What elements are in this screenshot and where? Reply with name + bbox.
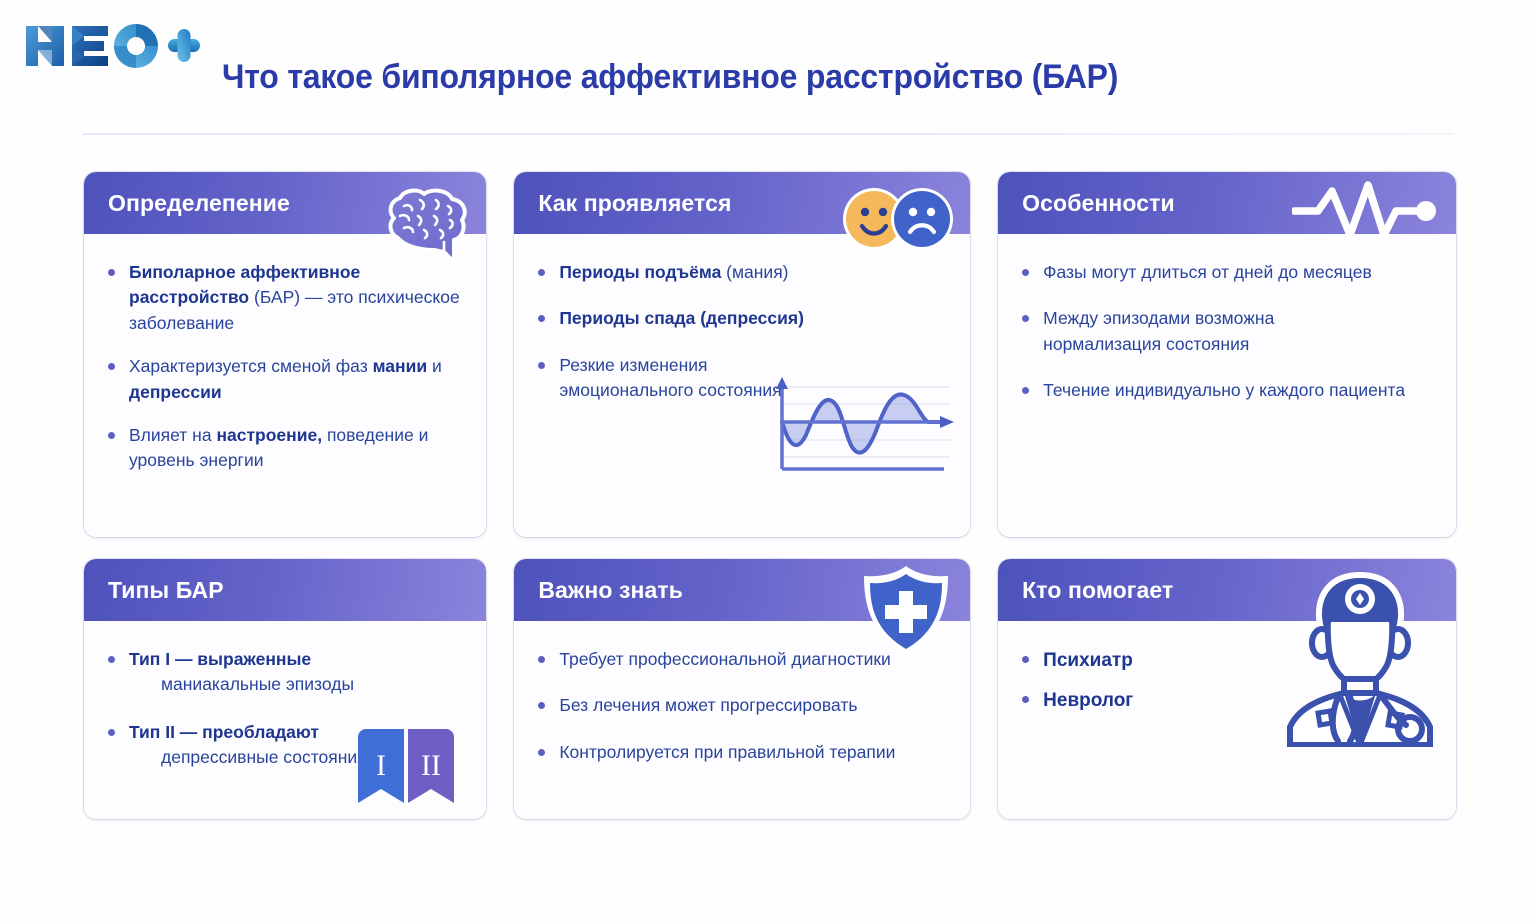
list-item: Периоды подъёма (мания) [536,260,948,285]
type-badges-icon: I II [354,727,466,813]
card-definition-header: Определепение [84,172,486,234]
bullet-text: Между эпизодами возможна нормализация со… [1043,308,1274,353]
bullet-text: Влияет на [129,425,216,445]
list-item: Контролируется при правильной терапии [536,740,948,765]
card-types-title: Типы БАР [108,577,224,604]
bullet-text: Характеризуется сменой фаз [129,356,373,376]
list-item: Биполарное аффективное расстройство (БАР… [106,260,464,336]
bullet-strong: Психиатр [1043,650,1133,671]
page-title: Что такое биполярное аффективное расстро… [222,58,1118,97]
card-who-helps[interactable]: Кто помогает Психиатр Невролог [998,559,1456,819]
cards-grid: Определепение Биполарное аффективное рас… [84,172,1456,819]
bullet-text: Требует профессиональной диагностики [559,649,891,669]
features-bullet-list: Фазы могут длиться от дней до месяцев Ме… [1020,260,1434,404]
cards-row-bottom: Типы БАР Тип I — выраженные маниакальные… [84,559,1456,819]
list-item: Без лечения может прогрессировать [536,693,948,718]
cards-row-top: Определепение Биполарное аффективное рас… [84,172,1456,537]
card-features-body: Фазы могут длиться от дней до месяцев Ме… [998,234,1456,537]
card-types[interactable]: Типы БАР Тип I — выраженные маниакальные… [84,559,486,819]
definition-bullet-list: Биполарное аффективное расстройство (БАР… [106,260,464,474]
card-important-title: Важно знать [538,577,683,604]
card-important[interactable]: Важно знать Требует профессиональной диа… [514,559,970,819]
bullet-strong: настроение, [216,425,322,445]
bullet-strong: мании [373,356,428,376]
bullet-strong: Тип II — преобладают [129,722,319,742]
bullet-text: Резкие изменения эмоционального состояни… [559,355,781,400]
badge-one-label: I [376,749,386,782]
emotion-faces-icon [838,186,956,252]
neo-plus-logo [22,18,202,74]
bullet-strong: Периоды подъёма [559,262,721,282]
pulse-line-icon [1292,180,1448,240]
list-item: Характеризуется сменой фаз мании и депре… [106,354,464,405]
card-definition-title: Определепение [108,190,290,217]
list-item: Влияет на настроение, поведение и уровен… [106,423,464,474]
card-how-it-shows-title: Как проявляется [538,190,731,217]
card-how-it-shows[interactable]: Как проявляется Периоды подъёма (мания) … [514,172,970,537]
list-item: Периоды спада (депрессия) [536,306,948,331]
mood-wave-chart [764,371,956,477]
shield-cross-icon [856,563,956,659]
bullet-strong: Невролог [1043,690,1133,711]
card-definition-body: Биполарное аффективное расстройство (БАР… [84,234,486,537]
bullet-strong: депрессии [129,382,222,402]
card-definition[interactable]: Определепение Биполарное аффективное рас… [84,172,486,537]
card-features[interactable]: Особенности Фазы могут длиться от дней д… [998,172,1456,537]
doctor-icon [1274,567,1446,747]
bullet-text: и [427,356,442,376]
bullet-text: Течение индивидуально у каждого пациента [1043,380,1405,400]
card-how-it-shows-body: Периоды подъёма (мания) Периоды спада (д… [514,234,970,537]
bullet-subtext: маниакальные эпизоды [161,672,464,697]
bullet-strong: Периоды спада (депрессия) [559,308,804,328]
page-header: Что такое биполярное аффективное расстро… [0,0,1536,128]
bullet-text: Фазы могут длиться от дней до месяцев [1043,262,1372,282]
important-bullet-list: Требует профессиональной диагностики Без… [536,647,948,765]
list-item: Фазы могут длиться от дней до месяцев [1020,260,1434,285]
list-item: Между эпизодами возможна нормализация со… [1020,306,1310,357]
infographic-page: Что такое биполярное аффективное расстро… [0,0,1536,922]
list-item: Течение индивидуально у каждого пациента [1020,378,1434,403]
bullet-text: (мания) [721,262,788,282]
list-item: Тип I — выраженные маниакальные эпизоды [106,647,464,698]
neo-plus-logo-icon [22,18,202,74]
bullet-strong: Тип I — выраженные [129,649,311,669]
card-types-body: Тип I — выраженные маниакальные эпизоды … [84,621,486,819]
card-types-header: Типы БАР [84,559,486,621]
title-divider [82,133,1454,135]
badge-two-label: II [421,749,441,782]
list-item: Резкие изменения эмоционального состояни… [536,353,791,404]
card-who-helps-title: Кто помогает [1022,577,1173,604]
bullet-text: Без лечения может прогрессировать [559,695,857,715]
bullet-text: Контролируется при правильной терапии [559,742,895,762]
card-features-title: Особенности [1022,190,1175,217]
